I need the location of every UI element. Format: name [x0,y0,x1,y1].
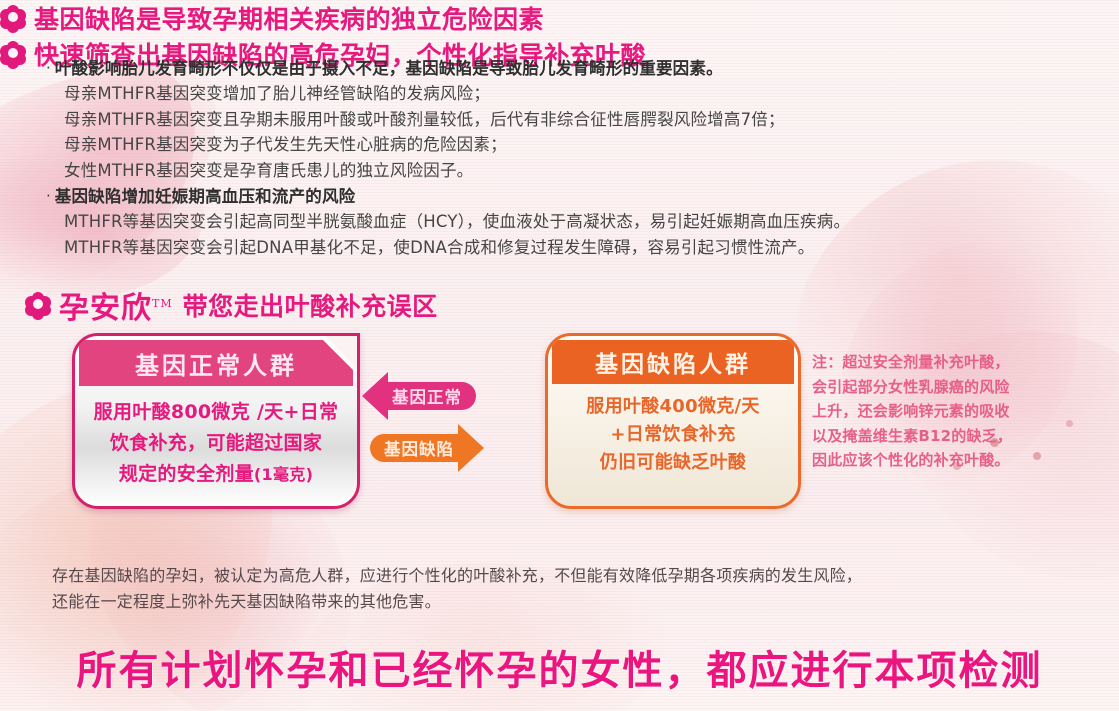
sub-line: 母亲MTHFR基因突变增加了胎儿神经管缺陷的发病风险； [64,81,1046,107]
note-line: 上升，还会影响锌元素的吸收 [812,399,1112,424]
card-line-note: (1毫克) [254,465,313,484]
section-3-line: 还能在一定程度上弥补先天基因缺陷带来的其他危害。 [52,589,862,615]
bottom-banner: 所有计划怀孕和已经怀孕的女性，都应进行本项检测 [0,638,1119,696]
bullet-lead-text: 基因缺陷增加妊娠期高血压和流产的风险 [55,184,356,209]
normal-gene-card: 基因正常人群 服用叶酸800微克 /天+日常 饮食补充，可能超过国家 规定的安全… [72,333,360,509]
card-line: 服用叶酸800微克 /天+日常 [91,397,341,428]
defect-gene-card: 基因缺陷人群 服用叶酸400微克/天 +日常饮食补充 仍旧可能缺乏叶酸 [545,333,801,509]
defect-gene-card-title: 基因缺陷人群 [552,340,794,384]
normal-gene-card-title: 基因正常人群 [79,340,353,386]
bullet-marker: · [46,184,51,208]
arrow-defect-gene: 基因缺陷 [370,424,484,472]
normal-gene-card-body: 服用叶酸800微克 /天+日常 饮食补充，可能超过国家 规定的安全剂量(1毫克) [75,386,357,490]
safety-note: 注：超过安全剂量补充叶酸， 会引起部分女性乳腺癌的风险 上升，还会影响锌元素的吸… [812,350,1112,473]
card-line: +日常饮食补充 [558,421,788,449]
brand-heading: 孕安欣TM 带您走出叶酸补充误区 [25,283,438,327]
arrow-normal-gene: 基因正常 [362,372,476,420]
brand-tagline: 带您走出叶酸补充误区 [183,287,438,323]
sub-line: 母亲MTHFR基因突变且孕期未服用叶酸或叶酸剂量较低，后代有非综合征性唇腭裂风险… [64,107,1046,133]
bullet-lead-row: · 基因缺陷增加妊娠期高血压和流产的风险 [46,184,1046,209]
brand-name-text: 孕安欣 [59,291,152,326]
sub-line: MTHFR等基因突变会引起高同型半胱氨酸血症（HCY），使血液处于高凝状态，易引… [64,209,1046,235]
sub-line: 女性MTHFR基因突变是孕育唐氏患儿的独立风险因子。 [64,158,1046,184]
arrow-left-label: 基因正常 [388,382,476,410]
defect-gene-card-body: 服用叶酸400微克/天 +日常饮食补充 仍旧可能缺乏叶酸 [548,384,798,477]
section-3-body: 存在基因缺陷的孕妇，被认定为高危人群，应进行个性化的叶酸补充，不但能有效降低孕期… [52,563,862,614]
bullet-group-1: · 叶酸影响胎儿发育畸形不仅仅是由于摄入不足，基因缺陷是导致胎儿发育畸形的重要因… [46,56,1046,183]
sub-line: 母亲MTHFR基因突变为子代发生先天性心脏病的危险因素； [64,132,1046,158]
section-1-heading-text: 基因缺陷是导致孕期相关疾病的独立危险因素 [34,0,544,36]
card-line: 服用叶酸400微克/天 [558,393,788,421]
section-1-heading: 基因缺陷是导致孕期相关疾病的独立危险因素 [0,0,1119,36]
note-line: 注：超过安全剂量补充叶酸， [812,350,1112,375]
note-line: 因此应该个性化的补充叶酸。 [812,448,1112,473]
bullet-sub-lines: 母亲MTHFR基因突变增加了胎儿神经管缺陷的发病风险； 母亲MTHFR基因突变且… [64,81,1046,183]
note-line: 会引起部分女性乳腺癌的风险 [812,375,1112,400]
flower-icon [0,41,26,67]
arrow-right-label: 基因缺陷 [370,434,458,462]
arrow-left-head-icon [362,372,388,420]
section-3-line: 存在基因缺陷的孕妇，被认定为高危人群，应进行个性化的叶酸补充，不但能有效降低孕期… [52,563,862,589]
trademark-symbol: TM [152,297,173,310]
card-line: 仍旧可能缺乏叶酸 [558,449,788,477]
bullet-sub-lines: MTHFR等基因突变会引起高同型半胱氨酸血症（HCY），使血液处于高凝状态，易引… [64,209,1046,260]
sub-line: MTHFR等基因突变会引起DNA甲基化不足，使DNA合成和修复过程发生障碍，容易… [64,235,1046,261]
brand-name: 孕安欣TM [59,283,173,327]
bullet-lead-row: · 叶酸影响胎儿发育畸形不仅仅是由于摄入不足，基因缺陷是导致胎儿发育畸形的重要因… [46,56,1046,81]
card-line: 饮食补充，可能超过国家 [91,428,341,459]
note-line: 以及掩盖维生素B12的缺乏， [812,424,1112,449]
card-line-text: 规定的安全剂量 [119,463,254,485]
bullet-group-2: · 基因缺陷增加妊娠期高血压和流产的风险 MTHFR等基因突变会引起高同型半胱氨… [46,184,1046,260]
flower-icon [25,292,51,318]
arrow-right-head-icon [458,424,484,472]
flower-icon [0,5,26,31]
card-line: 规定的安全剂量(1毫克) [91,459,341,490]
bullet-lead-text: 叶酸影响胎儿发育畸形不仅仅是由于摄入不足，基因缺陷是导致胎儿发育畸形的重要因素。 [55,56,723,81]
bullet-marker: · [46,56,51,80]
